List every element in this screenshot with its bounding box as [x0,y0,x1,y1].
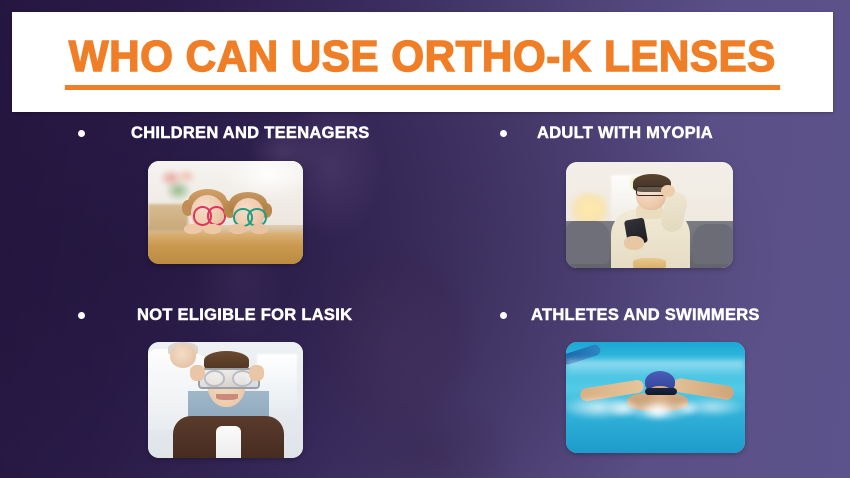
item-adult-with-myopia[interactable]: ADULT WITH MYOPIA [500,120,820,268]
items-grid: CHILDREN AND TEENAGERS [0,112,850,478]
item-not-eligible-for-lasik[interactable]: NOT ELIGIBLE FOR LASIK [78,302,418,458]
photo-adult-with-myopia [566,162,733,268]
photo-athlete-swimmer [566,342,745,453]
label-row: ATHLETES AND SWIMMERS [500,302,820,328]
photo-bowl [633,258,666,268]
photo-patient-white-tee [216,426,241,458]
slide-canvas: WHO CAN USE ORTHO-K LENSES CHILDREN AND … [0,0,850,478]
bullet-dot-icon [500,130,507,137]
photo-water-splash [602,400,709,420]
item-label: ATHLETES AND SWIMMERS [531,305,760,325]
photo-doctor-face [170,344,196,367]
photo-doctor-hand-right [249,365,265,381]
item-children-and-teenagers[interactable]: CHILDREN AND TEENAGERS [78,120,418,264]
label-row: ADULT WITH MYOPIA [500,120,820,146]
photo-wooden-table [148,233,303,264]
item-label: ADULT WITH MYOPIA [537,123,713,143]
bullet-dot-icon [78,312,85,319]
photo-doctor-hand-left [190,365,206,381]
photo-patient-smile [216,394,238,400]
photo-children-hands [182,223,272,235]
title-banner: WHO CAN USE ORTHO-K LENSES [12,12,833,112]
photo-sofa-cushion-right [693,224,733,264]
bullet-dot-icon [78,130,85,137]
photo-trial-lens-left [204,370,225,387]
label-row: CHILDREN AND TEENAGERS [78,120,418,146]
item-label: NOT ELIGIBLE FOR LASIK [137,305,352,325]
page-title: WHO CAN USE ORTHO-K LENSES [65,35,780,90]
photo-children-with-glasses [148,161,303,264]
photo-lasik-not-eligible [148,342,303,458]
item-athletes-and-swimmers[interactable]: ATHLETES AND SWIMMERS [500,302,820,453]
item-label: CHILDREN AND TEENAGERS [131,123,369,143]
bullet-dot-icon [500,312,507,319]
photo-sofa-cushion-left [566,221,609,263]
label-row: NOT ELIGIBLE FOR LASIK [78,302,418,328]
photo-man-hand-holding-phone [624,236,644,250]
photo-man-hand-on-glasses [661,185,674,197]
